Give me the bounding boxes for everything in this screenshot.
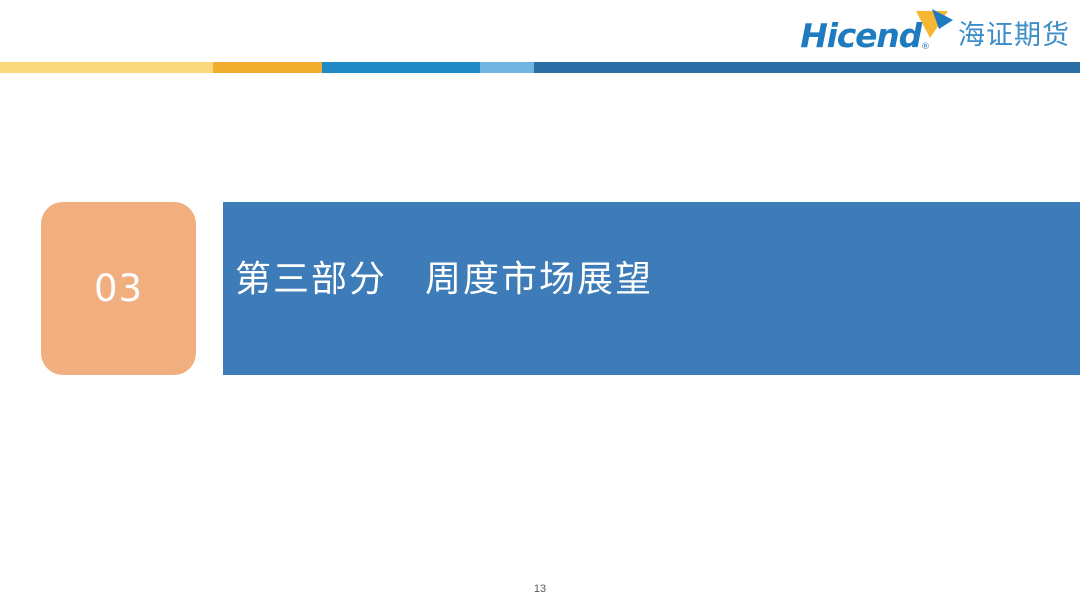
brand-chinese-name: 海证期货 [958,22,1070,49]
section-title-ghost-text: 第三部分 周度市场展望 [222,596,702,605]
accent-rule-bar [0,62,1080,73]
section-title-banner: 第三部分 周度市场展望 [223,202,1080,375]
brand-logo: Hicend® 海证期货 [800,12,1070,58]
brand-wordmark-text: Hicend [800,16,921,55]
page-number: 13 [0,583,1080,595]
registered-mark: ® [921,42,930,52]
rule-segment-dark-blue [534,62,1080,73]
section-number-badge: 03 [41,202,196,375]
slide-canvas: Hicend® 海证期货 03 第三部分 周度市场展望 第三部分 周度市场展望 … [0,0,1080,607]
rule-segment-medium-blue [322,62,480,73]
rule-segment-orange [213,62,322,73]
section-number-label: 03 [94,270,143,307]
section-title-label: 第三部分 周度市场展望 [235,258,653,301]
rule-segment-light-blue [480,62,534,73]
rule-segment-light-yellow [0,62,213,73]
brand-wordmark: Hicend® [800,19,932,52]
